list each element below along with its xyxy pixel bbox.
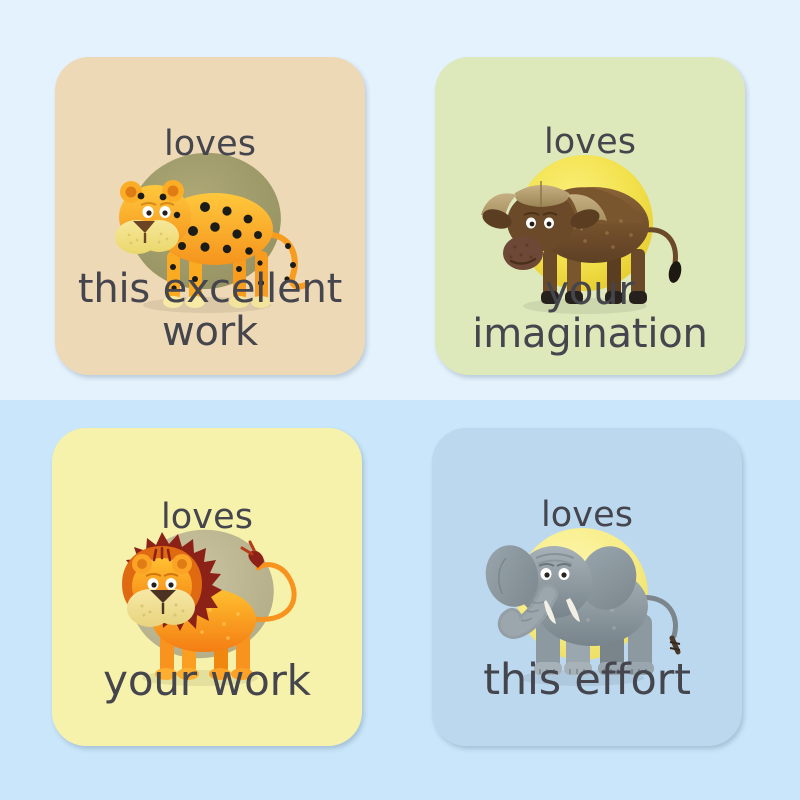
card-elephant[interactable]: loves	[432, 428, 742, 746]
card-leopard-bottom-text: this excellent work	[63, 268, 357, 353]
card-lion[interactable]: loves	[52, 428, 362, 746]
card-leopard[interactable]: loves	[55, 57, 365, 375]
card-elephant-bottom-line1: this effort	[440, 658, 734, 704]
card-buffalo[interactable]: loves	[435, 57, 745, 375]
card-lion-bottom-line1: your work	[60, 659, 354, 704]
card-elephant-top-text: loves	[541, 498, 633, 534]
card-elephant-bottom-text: this effort	[440, 658, 734, 704]
card-lion-bottom-text: your work	[60, 659, 354, 704]
card-buffalo-top-text: loves	[544, 125, 636, 161]
card-grid: loves	[0, 0, 800, 800]
card-buffalo-bottom-line1: your	[443, 270, 737, 312]
card-leopard-bottom-line2: work	[63, 311, 357, 353]
card-leopard-bottom-line1: this excellent	[63, 268, 357, 310]
card-buffalo-bottom-line2: imagination	[443, 313, 737, 355]
card-buffalo-bottom-text: your imagination	[443, 270, 737, 355]
page-root: loves	[0, 0, 800, 800]
card-lion-top-text: loves	[161, 500, 253, 536]
card-leopard-top-text: loves	[164, 127, 256, 163]
